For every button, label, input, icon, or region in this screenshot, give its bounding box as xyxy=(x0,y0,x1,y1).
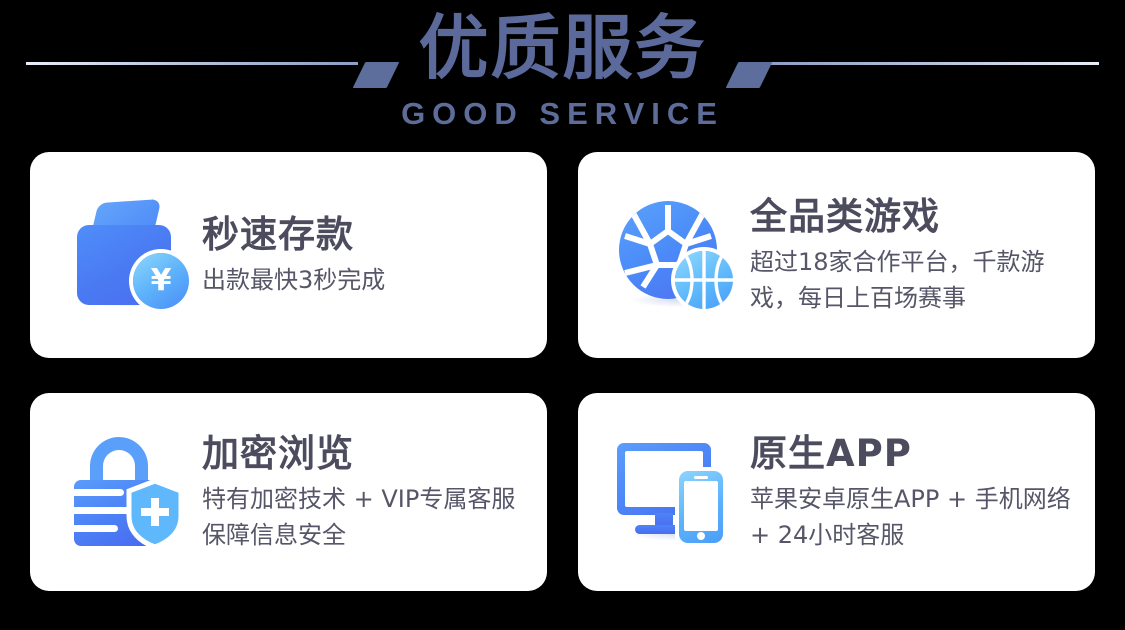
feature-card-games[interactable]: 全品类游戏 超过18家合作平台，千款游戏，每日上百场赛事 xyxy=(578,152,1095,358)
banner-header: 优质服务 GOOD SERVICE xyxy=(0,0,1125,146)
lock-shield-icon xyxy=(56,422,202,562)
card-subtitle: 出款最快3秒完成 xyxy=(202,262,537,298)
card-subtitle: 苹果安卓原生APP + 手机网络 + 24小时客服 xyxy=(750,481,1080,553)
card-text-block: 加密浏览 特有加密技术 + VIP专属客服保障信息安全 xyxy=(202,431,547,553)
wallet-icon: ¥ xyxy=(56,185,202,325)
basketball-icon xyxy=(675,251,733,309)
service-feature-banner: 优质服务 GOOD SERVICE ¥ 秒速存款 出款最快3秒完成 xyxy=(0,0,1125,630)
feature-card-grid: ¥ 秒速存款 出款最快3秒完成 xyxy=(30,152,1095,592)
lock-stripe xyxy=(74,525,118,532)
card-subtitle: 特有加密技术 + VIP专属客服保障信息安全 xyxy=(202,481,537,553)
card-subtitle: 超过18家合作平台，千款游戏，每日上百场赛事 xyxy=(750,244,1085,316)
phone-home-button xyxy=(697,532,705,540)
yen-coin-icon: ¥ xyxy=(133,253,189,309)
card-text-block: 原生APP 苹果安卓原生APP + 手机网络 + 24小时客服 xyxy=(750,431,1095,553)
page-subtitle: GOOD SERVICE xyxy=(0,97,1125,131)
card-title: 原生APP xyxy=(750,431,1085,477)
phone-screen xyxy=(684,481,718,531)
card-title: 加密浏览 xyxy=(202,431,537,477)
soccer-basketball-icon xyxy=(604,185,750,325)
feature-card-native-app[interactable]: 原生APP 苹果安卓原生APP + 手机网络 + 24小时客服 xyxy=(578,393,1095,591)
card-title: 秒速存款 xyxy=(202,212,537,258)
card-title: 全品类游戏 xyxy=(750,194,1085,240)
currency-symbol: ¥ xyxy=(151,266,172,296)
card-text-block: 秒速存款 出款最快3秒完成 xyxy=(202,212,547,298)
monitor-phone-icon xyxy=(604,422,750,562)
phone-icon xyxy=(679,471,723,543)
shield-plus-icon xyxy=(126,480,184,548)
feature-card-deposit[interactable]: ¥ 秒速存款 出款最快3秒完成 xyxy=(30,152,547,358)
lock-stripe xyxy=(74,489,124,496)
card-text-block: 全品类游戏 超过18家合作平台，千款游戏，每日上百场赛事 xyxy=(750,194,1095,316)
feature-card-encryption[interactable]: 加密浏览 特有加密技术 + VIP专属客服保障信息安全 xyxy=(30,393,547,591)
page-title: 优质服务 xyxy=(0,6,1125,90)
phone-speaker xyxy=(694,476,708,479)
